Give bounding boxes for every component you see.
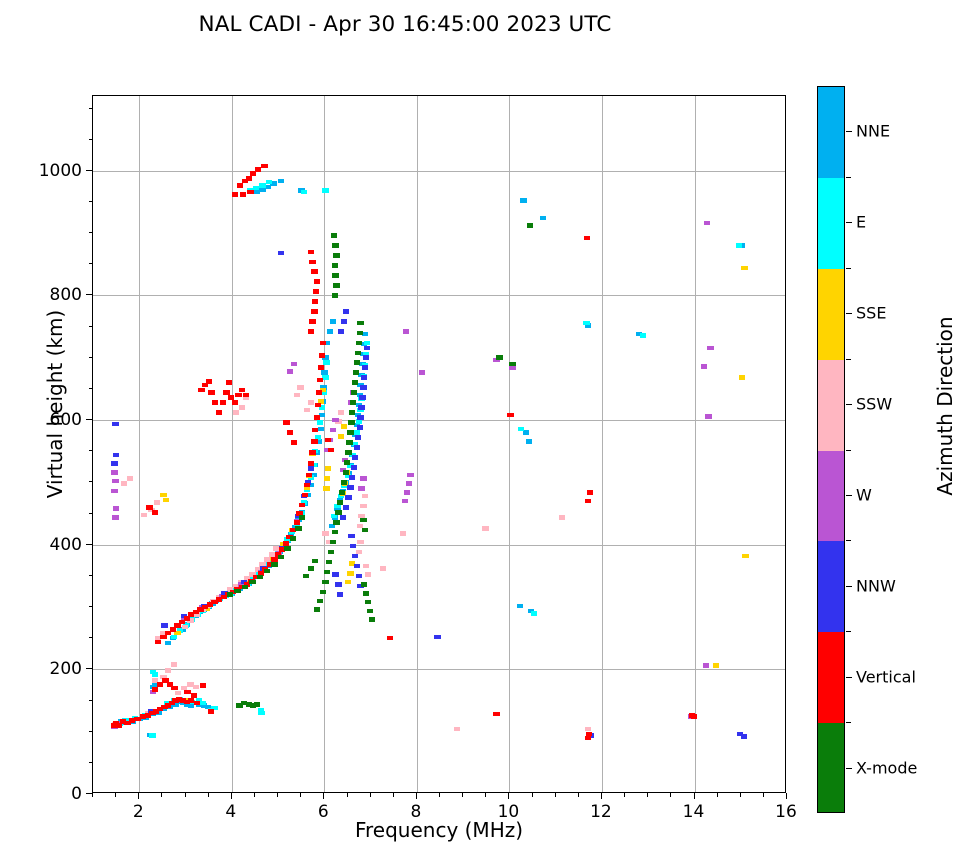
x-tick-minor <box>370 793 371 797</box>
data-point <box>400 531 406 536</box>
colorbar-tick <box>846 131 852 132</box>
data-point <box>361 582 367 587</box>
data-point <box>242 585 248 590</box>
x-tick-minor <box>185 793 186 797</box>
data-point <box>540 216 546 221</box>
colorbar-boundary-tick <box>846 722 851 723</box>
colorbar-label-nne: NNE <box>856 122 890 141</box>
y-tick-minor <box>89 606 93 607</box>
data-point <box>247 190 253 195</box>
data-point <box>349 475 355 480</box>
data-point <box>332 530 338 535</box>
data-point <box>291 440 297 445</box>
scatter-points <box>93 96 785 792</box>
data-point <box>350 400 356 405</box>
data-point <box>308 400 314 405</box>
data-point <box>299 515 305 520</box>
y-tick-major <box>86 419 92 420</box>
data-point <box>360 385 366 390</box>
data-point <box>255 167 261 172</box>
data-point <box>171 686 177 691</box>
colorbar-label-e: E <box>856 213 866 232</box>
data-point <box>407 473 413 478</box>
data-point <box>182 625 188 630</box>
data-point <box>352 554 358 559</box>
data-point <box>321 370 327 375</box>
data-point <box>584 236 590 241</box>
data-point <box>742 554 748 559</box>
data-point <box>640 333 646 338</box>
x-tick-minor <box>115 793 116 797</box>
data-point <box>406 481 412 486</box>
y-tick-minor <box>89 201 93 202</box>
data-point <box>517 604 523 609</box>
data-point <box>311 269 317 274</box>
data-point <box>318 427 324 432</box>
data-point <box>345 580 351 585</box>
data-point <box>362 365 368 370</box>
colorbar-boundary-tick <box>846 450 851 451</box>
data-point <box>356 574 362 579</box>
data-point <box>152 687 158 692</box>
data-point <box>295 526 301 531</box>
data-point <box>348 534 354 539</box>
y-tick-minor <box>89 326 93 327</box>
data-point <box>314 607 320 612</box>
data-point <box>343 505 349 510</box>
data-point <box>355 435 361 440</box>
data-point <box>332 273 338 278</box>
x-tick-major <box>323 793 324 799</box>
y-tick-minor <box>89 263 93 264</box>
y-tick-minor <box>89 513 93 514</box>
data-point <box>330 428 336 433</box>
colorbar-tick <box>846 313 852 314</box>
data-point <box>346 440 352 445</box>
data-point <box>332 572 338 577</box>
data-point <box>163 498 169 503</box>
data-point <box>362 494 368 499</box>
data-point <box>365 572 371 577</box>
data-point <box>320 341 326 346</box>
data-point <box>325 466 331 471</box>
colorbar-segment-x-mode <box>818 723 844 813</box>
data-point <box>228 395 234 400</box>
data-point <box>338 410 344 415</box>
data-point <box>339 490 345 495</box>
data-point <box>361 375 367 380</box>
data-point <box>357 331 363 336</box>
data-point <box>304 483 310 488</box>
data-point <box>208 709 214 714</box>
data-point <box>360 518 366 523</box>
data-point <box>583 321 589 326</box>
x-tick-minor <box>254 793 255 797</box>
y-tick-minor <box>89 450 93 451</box>
y-tick-minor <box>89 232 93 233</box>
data-point <box>585 499 591 504</box>
data-point <box>585 736 591 741</box>
data-point <box>246 176 252 181</box>
data-point <box>254 702 260 707</box>
data-point <box>359 395 365 400</box>
y-tick-major <box>86 793 92 794</box>
data-point <box>704 221 710 226</box>
colorbar-boundary-tick <box>846 177 851 178</box>
x-tick-major <box>138 793 139 799</box>
data-point <box>234 589 240 594</box>
x-tick-major <box>694 793 695 799</box>
data-point <box>149 733 155 738</box>
data-point <box>328 448 334 453</box>
colorbar-tick <box>846 677 852 678</box>
data-point <box>526 439 532 444</box>
colorbar-tick <box>846 768 852 769</box>
x-tick-minor <box>277 793 278 797</box>
data-point <box>332 293 338 298</box>
data-point <box>112 422 118 427</box>
data-point <box>301 190 307 195</box>
data-point <box>271 562 277 567</box>
data-point <box>311 439 317 444</box>
y-tick-major <box>86 170 92 171</box>
data-point <box>703 663 709 668</box>
data-point <box>220 400 226 405</box>
x-tick-minor <box>624 793 625 797</box>
data-point <box>160 493 166 498</box>
data-point <box>365 600 371 605</box>
data-point <box>308 461 314 466</box>
colorbar-tick <box>846 586 852 587</box>
data-point <box>335 582 341 587</box>
y-tick-major <box>86 294 92 295</box>
y-tick-major <box>86 668 92 669</box>
data-point <box>320 590 326 595</box>
data-point <box>165 668 171 673</box>
data-point <box>312 299 318 304</box>
data-point <box>360 504 366 509</box>
data-point <box>127 476 133 481</box>
y-tick-minor <box>89 481 93 482</box>
data-point <box>341 424 347 429</box>
y-tick-label: 200 <box>14 659 82 679</box>
data-point <box>322 580 328 585</box>
data-point <box>261 164 267 169</box>
colorbar-segment-ssw <box>818 360 844 451</box>
colorbar <box>817 86 845 813</box>
data-point <box>322 188 328 193</box>
colorbar-tick <box>846 404 852 405</box>
data-point <box>313 289 319 294</box>
data-point <box>332 243 338 248</box>
data-point <box>113 506 119 511</box>
y-tick-minor <box>89 731 93 732</box>
data-point <box>324 570 330 575</box>
x-tick-minor <box>555 793 556 797</box>
data-point <box>331 233 337 238</box>
data-point <box>367 609 373 614</box>
data-point <box>299 503 305 508</box>
colorbar-boundary-tick <box>846 631 851 632</box>
data-point <box>332 263 338 268</box>
data-point <box>349 410 355 415</box>
data-point <box>363 355 369 360</box>
x-tick-minor <box>208 793 209 797</box>
data-point <box>294 520 300 525</box>
data-point <box>302 493 308 498</box>
plot-area <box>92 95 786 793</box>
y-tick-minor <box>89 108 93 109</box>
x-tick-minor <box>485 793 486 797</box>
data-point <box>707 346 713 351</box>
data-point <box>330 319 336 324</box>
data-point <box>155 640 161 645</box>
data-point <box>278 555 284 560</box>
data-point <box>141 513 147 518</box>
colorbar-boundary-tick <box>846 268 851 269</box>
data-point <box>585 727 591 732</box>
colorbar-segment-e <box>818 178 844 269</box>
data-point <box>283 541 289 546</box>
data-point <box>337 592 343 597</box>
colorbar-label-x-mode: X-mode <box>856 758 917 777</box>
data-point <box>208 390 214 395</box>
data-point <box>291 362 297 367</box>
data-point <box>152 672 158 677</box>
colorbar-title: Azimuth Direction <box>933 256 957 556</box>
data-point <box>344 460 350 465</box>
data-point <box>509 362 515 367</box>
data-point <box>518 427 524 432</box>
data-point <box>454 727 460 732</box>
data-point <box>323 486 329 491</box>
data-point <box>343 470 349 475</box>
data-point <box>112 515 118 520</box>
colorbar-boundary-tick <box>846 359 851 360</box>
data-point <box>419 370 425 375</box>
data-point <box>345 495 351 500</box>
data-point <box>333 283 339 288</box>
data-point <box>358 486 364 491</box>
data-point <box>184 690 190 695</box>
colorbar-label-sse: SSE <box>856 304 886 323</box>
data-point <box>290 536 296 541</box>
data-point <box>741 266 747 271</box>
data-point <box>332 418 338 423</box>
data-point <box>113 453 119 458</box>
data-point <box>345 450 351 455</box>
data-point <box>351 390 357 395</box>
data-point <box>316 390 322 395</box>
data-point <box>308 466 314 471</box>
y-tick-label: 1000 <box>14 161 82 181</box>
data-point <box>287 369 293 374</box>
data-point <box>330 540 336 545</box>
data-point <box>309 260 315 265</box>
data-point <box>347 485 353 490</box>
data-point <box>258 711 264 716</box>
colorbar-segment-sse <box>818 269 844 360</box>
data-point <box>351 465 357 470</box>
data-point <box>317 420 323 425</box>
data-point <box>237 183 243 188</box>
x-tick-minor <box>393 793 394 797</box>
data-point <box>737 732 743 737</box>
data-point <box>232 400 238 405</box>
data-point <box>357 425 363 430</box>
data-point <box>315 403 321 408</box>
data-point <box>348 420 354 425</box>
data-point <box>328 550 334 555</box>
chart-title: NAL CADI - Apr 30 16:45:00 2023 UTC <box>0 12 810 37</box>
y-tick-minor <box>89 575 93 576</box>
data-point <box>294 393 300 398</box>
x-tick-major <box>508 793 509 799</box>
data-point <box>198 388 204 393</box>
colorbar-segment-vertical <box>818 632 844 723</box>
colorbar-tick <box>846 222 852 223</box>
data-point <box>311 309 317 314</box>
data-point <box>111 489 117 494</box>
y-tick-label: 0 <box>14 784 82 804</box>
data-point <box>319 353 325 358</box>
data-point <box>323 360 329 365</box>
data-point <box>354 445 360 450</box>
data-point <box>736 243 742 248</box>
data-point <box>226 380 232 385</box>
data-point <box>112 479 118 484</box>
data-point <box>705 414 711 419</box>
data-point <box>266 180 272 185</box>
data-point <box>264 569 270 574</box>
data-point <box>239 405 245 410</box>
data-point <box>111 470 117 475</box>
data-point <box>199 701 205 706</box>
x-tick-minor <box>161 793 162 797</box>
data-point <box>713 663 719 668</box>
data-point <box>212 400 218 405</box>
data-point <box>363 591 369 596</box>
data-point <box>352 455 358 460</box>
data-point <box>308 566 314 571</box>
data-point <box>233 410 239 415</box>
colorbar-boundary-tick <box>846 540 851 541</box>
y-tick-major <box>86 544 92 545</box>
x-tick-major <box>416 793 417 799</box>
y-tick-minor <box>89 139 93 140</box>
data-point <box>284 546 290 551</box>
data-point <box>496 355 502 360</box>
data-point <box>357 415 363 420</box>
data-point <box>308 250 314 255</box>
colorbar-label-w: W <box>856 485 872 504</box>
data-point <box>318 365 324 370</box>
data-point <box>322 375 328 380</box>
x-tick-minor <box>647 793 648 797</box>
data-point <box>739 375 745 380</box>
data-point <box>520 198 526 203</box>
data-point <box>587 490 593 495</box>
data-point <box>364 346 370 351</box>
data-point <box>354 430 360 435</box>
data-point <box>121 481 127 486</box>
data-point <box>341 480 347 485</box>
x-tick-minor <box>763 793 764 797</box>
data-point <box>362 332 368 337</box>
data-point <box>283 420 289 425</box>
data-point <box>354 564 360 569</box>
data-point <box>402 499 408 504</box>
y-tick-minor <box>89 762 93 763</box>
data-point <box>175 691 181 696</box>
data-point <box>243 393 249 398</box>
data-point <box>312 559 318 564</box>
x-tick-minor <box>347 793 348 797</box>
data-point <box>161 623 167 628</box>
x-tick-major <box>601 793 602 799</box>
data-point <box>380 566 386 571</box>
data-point <box>523 430 529 435</box>
data-point <box>308 329 314 334</box>
data-point <box>193 685 199 690</box>
data-point <box>227 592 233 597</box>
x-tick-minor <box>462 793 463 797</box>
colorbar-tick <box>846 495 852 496</box>
data-point <box>369 617 375 622</box>
data-point <box>317 599 323 604</box>
x-tick-minor <box>740 793 741 797</box>
data-point <box>259 183 265 188</box>
data-point <box>249 580 255 585</box>
data-point <box>338 329 344 334</box>
data-point <box>337 500 343 505</box>
data-point <box>194 701 200 706</box>
colorbar-label-vertical: Vertical <box>856 667 916 686</box>
data-point <box>357 540 363 545</box>
data-point <box>304 408 310 413</box>
data-point <box>434 635 440 640</box>
x-tick-minor <box>92 793 93 797</box>
data-point <box>154 500 160 505</box>
colorbar-segment-nnw <box>818 541 844 632</box>
data-point <box>264 557 270 562</box>
data-point <box>239 388 245 393</box>
data-point <box>559 515 565 520</box>
data-point <box>355 351 361 356</box>
data-point <box>202 383 208 388</box>
data-point <box>278 179 284 184</box>
data-point <box>493 712 499 717</box>
colorbar-label-ssw: SSW <box>856 395 892 414</box>
data-point <box>340 515 346 520</box>
data-point <box>326 560 332 565</box>
data-point <box>165 641 171 646</box>
data-point <box>362 528 368 533</box>
data-point <box>240 192 246 197</box>
data-point <box>527 223 533 228</box>
data-point <box>287 430 293 435</box>
x-tick-major <box>231 793 232 799</box>
data-point <box>317 378 323 383</box>
colorbar-segment-w <box>818 451 844 542</box>
data-point <box>324 476 330 481</box>
data-point <box>333 253 339 258</box>
data-point <box>171 662 177 667</box>
y-tick-minor <box>89 388 93 389</box>
data-point <box>531 611 537 616</box>
data-point <box>347 571 353 576</box>
data-point <box>200 683 206 688</box>
